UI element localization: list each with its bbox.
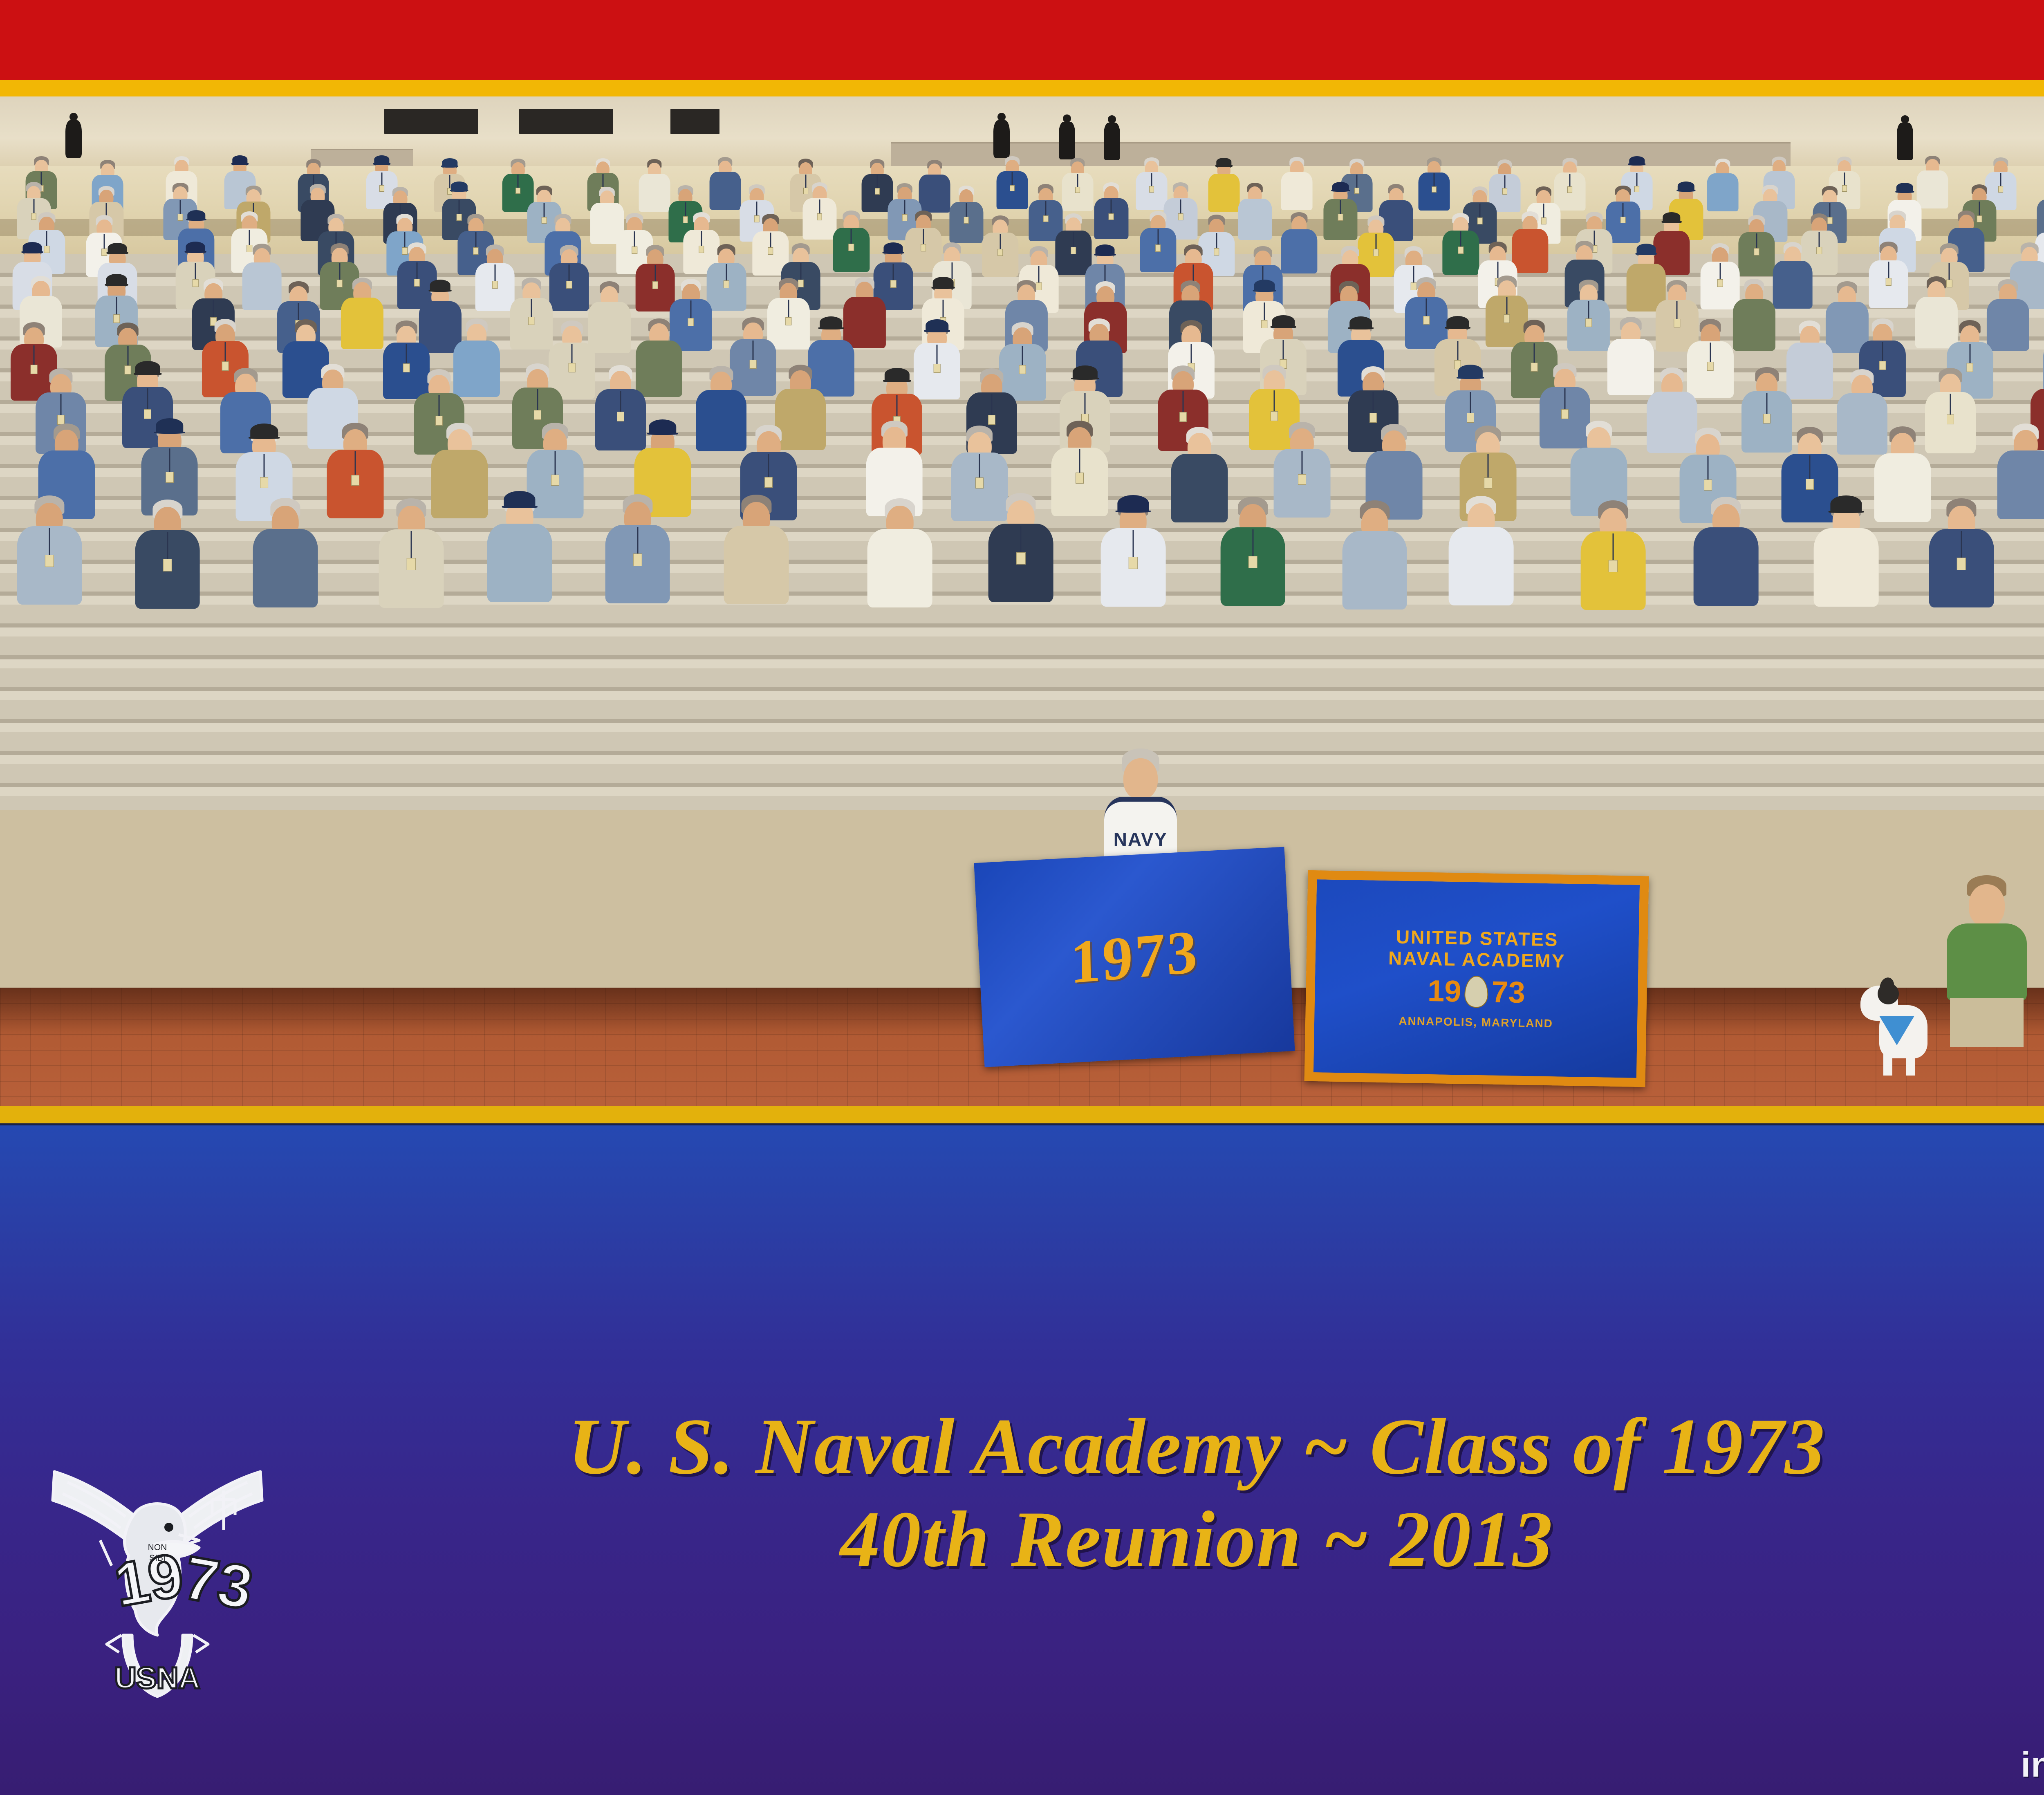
- name-badge: [534, 410, 541, 420]
- alumnus-figure: [1786, 320, 1833, 416]
- alumnus-figure: [487, 493, 552, 626]
- name-badge: [1585, 318, 1591, 327]
- name-badge: [988, 415, 995, 425]
- top-red-band: [0, 0, 2044, 80]
- name-badge: [1816, 247, 1822, 254]
- dog-leg: [1883, 1053, 1892, 1076]
- dog-leg: [1906, 1053, 1915, 1076]
- alumnus-figure: [1581, 500, 1646, 633]
- name-badge: [1609, 560, 1618, 572]
- pedestrian-head: [997, 113, 1006, 121]
- alumnus-figure: [1238, 183, 1272, 252]
- name-badge: [166, 472, 174, 483]
- name-badge: [1763, 414, 1771, 424]
- name-badge: [1178, 213, 1183, 220]
- name-badge: [1298, 474, 1306, 485]
- name-badge: [407, 558, 416, 570]
- pedestrian-body: [1104, 123, 1120, 160]
- name-badge: [1271, 411, 1278, 421]
- alumnus-figure: [135, 500, 200, 632]
- pedestrian-body: [1897, 123, 1913, 160]
- alumnus-figure: [1694, 497, 1759, 630]
- name-badge: [1076, 473, 1084, 484]
- pedestrian-body: [993, 120, 1010, 158]
- name-badge: [1214, 248, 1219, 255]
- name-badge: [1717, 279, 1723, 287]
- alumnus-figure: [1929, 498, 1994, 631]
- pedestrian-body: [1059, 122, 1075, 159]
- name-badge: [1704, 480, 1712, 491]
- name-badge: [849, 244, 854, 251]
- poster-title: U. S. Naval Academy ~ Class of 1973 40th…: [0, 1400, 2044, 1586]
- class-mascot-dog: [1858, 973, 1946, 1076]
- alumnus-figure: [1062, 158, 1093, 222]
- banner-year-left: 19: [1427, 976, 1461, 1006]
- name-badge: [1149, 186, 1154, 193]
- alumnus-figure: [1773, 242, 1813, 323]
- class-year-banner-text: 1973: [1069, 916, 1199, 998]
- name-badge: [1043, 215, 1048, 222]
- banner-year: 19 73: [1427, 975, 1525, 1008]
- alumnus-figure: [1567, 280, 1610, 367]
- name-badge: [1561, 409, 1569, 419]
- crest-year-right: 73: [179, 1543, 258, 1622]
- alumnus-figure: [341, 278, 383, 365]
- name-badge: [1567, 186, 1572, 193]
- name-badge: [566, 281, 572, 289]
- building-window: [670, 109, 719, 134]
- alumnus-figure: [724, 495, 789, 627]
- name-badge: [1109, 213, 1114, 220]
- banner-line-2: NAVAL ACADEMY: [1388, 948, 1566, 971]
- name-badge: [934, 364, 941, 373]
- title-line-2: 40th Reunion ~ 2013: [0, 1493, 2044, 1586]
- name-badge: [1806, 479, 1814, 490]
- alumnus-figure: [982, 215, 1018, 290]
- name-badge: [1957, 558, 1966, 570]
- alumnus-figure: [1733, 279, 1775, 366]
- kneeling-alumnus: [1940, 875, 2034, 1051]
- alumnus-figure: [988, 493, 1053, 626]
- name-badge: [997, 249, 1003, 256]
- name-badge: [113, 314, 119, 323]
- name-badge: [1016, 552, 1025, 565]
- alumnus-figure: [1443, 213, 1479, 288]
- name-badge: [551, 475, 559, 486]
- name-badge: [1155, 244, 1161, 252]
- name-badge: [1947, 415, 1954, 424]
- name-badge: [1504, 314, 1510, 323]
- pedestrian-head: [1901, 115, 1909, 123]
- name-badge: [1019, 365, 1026, 374]
- alumnus-figure: [1171, 427, 1228, 543]
- name-badge: [569, 363, 576, 372]
- alumnus-figure: [709, 157, 741, 221]
- alumnus-figure: [327, 423, 384, 539]
- alumnus-figure: [867, 498, 932, 631]
- name-badge: [1179, 412, 1187, 422]
- alumnus-figure: [1094, 182, 1128, 252]
- name-badge: [633, 554, 642, 566]
- alumnus-figure: [1874, 426, 1931, 542]
- name-badge: [724, 280, 729, 288]
- alumnus-figure: [605, 494, 670, 627]
- name-badge: [890, 280, 896, 288]
- name-badge: [528, 317, 534, 325]
- alumnus-figure: [1281, 212, 1317, 287]
- name-badge: [1467, 413, 1474, 423]
- building-window: [519, 109, 613, 134]
- banner-year-right: 73: [1491, 977, 1526, 1008]
- alumnus-figure: [1869, 242, 1908, 323]
- name-badge: [688, 318, 694, 326]
- alumnus-figure: [242, 244, 282, 325]
- gold-border-bottom: [0, 1106, 2044, 1123]
- alumnus-figure: [1208, 159, 1239, 223]
- name-badge: [817, 213, 822, 220]
- alumnus-figure: [510, 278, 553, 365]
- name-badge: [1373, 249, 1379, 256]
- alumnus-figure: [253, 498, 318, 631]
- name-badge: [1369, 413, 1377, 423]
- alumnus-figure: [475, 244, 515, 325]
- reunion-poster: NAVY 1973 UNITED STATES NAVAL ACADEMY 19…: [0, 0, 2044, 1795]
- name-badge: [144, 409, 151, 419]
- name-badge: [516, 188, 521, 194]
- name-badge: [1484, 477, 1492, 489]
- naval-academy-banner: UNITED STATES NAVAL ACADEMY 19 73 ANNAPO…: [1304, 870, 1649, 1087]
- name-badge: [617, 412, 624, 421]
- usna-shield-icon: [1464, 976, 1488, 1008]
- banner-line-3: ANNAPOLIS, MARYLAND: [1399, 1015, 1553, 1031]
- alumnus-figure: [1342, 500, 1407, 633]
- class-year-banner: 1973: [974, 847, 1295, 1067]
- alumnus-figure: [1324, 183, 1358, 252]
- name-badge: [764, 477, 773, 488]
- us-naval-academy-seal-icon: U. S. SCIENTIA NAVAL ACADEMY EX TRIDENS: [2038, 1461, 2044, 1711]
- alumnus-figure: [635, 245, 675, 326]
- alumnus-figure: [1101, 497, 1166, 630]
- name-badge: [1674, 319, 1680, 327]
- alumnus-figure: [1925, 368, 1976, 472]
- name-badge: [750, 360, 757, 369]
- pedestrian-head: [1063, 114, 1071, 123]
- gold-border-top: [0, 80, 2044, 96]
- building-window: [384, 109, 478, 134]
- name-badge: [921, 244, 926, 251]
- alumnus-figure: [802, 182, 836, 252]
- alumnus-figure: [1051, 421, 1108, 537]
- name-badge: [45, 555, 54, 567]
- name-badge: [163, 559, 172, 571]
- alumnus-figure: [1419, 157, 1450, 222]
- name-badge: [975, 477, 984, 489]
- name-badge: [1075, 187, 1080, 193]
- title-line-1: U. S. Naval Academy ~ Class of 1973: [0, 1400, 2044, 1493]
- name-badge: [1620, 217, 1626, 224]
- jersey-wordmark: NAVY: [1114, 828, 1168, 850]
- alumnus-figure: [1814, 497, 1879, 630]
- name-badge: [1423, 316, 1430, 324]
- name-badge: [875, 188, 880, 195]
- photographer-email[interactable]: info@photo-op.com: [2021, 1745, 2044, 1785]
- alumnus-figure: [549, 245, 589, 326]
- name-badge: [1707, 362, 1714, 371]
- name-badge: [1248, 556, 1257, 568]
- name-badge: [1010, 185, 1015, 192]
- pedestrian-head: [69, 113, 78, 121]
- class-group-photograph: NAVY 1973 UNITED STATES NAVAL ACADEMY 19…: [0, 96, 2044, 1106]
- crest-motto-top: NON: [148, 1543, 167, 1552]
- name-badge: [351, 475, 359, 486]
- alumnus-figure: [1140, 211, 1176, 286]
- banner-line-1: UNITED STATES: [1396, 927, 1559, 949]
- pedestrian-body: [65, 120, 82, 158]
- photo-gold-mat: NAVY 1973 UNITED STATES NAVAL ACADEMY 19…: [0, 96, 2044, 1123]
- alumnus-figure: [696, 366, 746, 470]
- crest-motto-bottom: SIBI: [149, 1553, 166, 1563]
- name-badge: [1502, 188, 1507, 195]
- name-badge: [1998, 186, 2003, 193]
- pedestrian-head: [1108, 115, 1116, 123]
- name-badge: [1432, 186, 1437, 193]
- alumnus-figure: [1449, 496, 1514, 629]
- alumnus-figure: [1997, 424, 2044, 540]
- name-badge: [260, 477, 268, 488]
- crest-school-name: USNA: [114, 1661, 200, 1695]
- name-badge: [1885, 278, 1891, 286]
- name-badge: [1754, 248, 1759, 255]
- name-badge: [1129, 557, 1138, 569]
- alumnus-figure: [379, 498, 444, 631]
- name-badge: [785, 317, 791, 325]
- name-badge: [1338, 214, 1343, 221]
- alumnus-figure: [997, 156, 1028, 220]
- name-badge: [699, 246, 704, 253]
- alumnus-figure: [1707, 159, 1739, 223]
- name-badge: [768, 247, 773, 255]
- usna-class-1973-crest-icon: 19 73 NON SIBI USNA: [39, 1443, 276, 1705]
- name-badge: [492, 281, 498, 289]
- name-badge: [964, 217, 969, 224]
- alumnus-figure: [1738, 215, 1775, 290]
- name-badge: [403, 363, 410, 372]
- alumnus-figure: [833, 211, 870, 285]
- name-badge: [1071, 247, 1076, 254]
- alumnus-figure: [1220, 497, 1285, 630]
- name-badge: [652, 281, 658, 289]
- name-badge: [1458, 247, 1464, 254]
- alumnus-figure: [707, 244, 746, 325]
- alumnus-figure: [17, 495, 82, 628]
- name-badge: [1531, 363, 1537, 372]
